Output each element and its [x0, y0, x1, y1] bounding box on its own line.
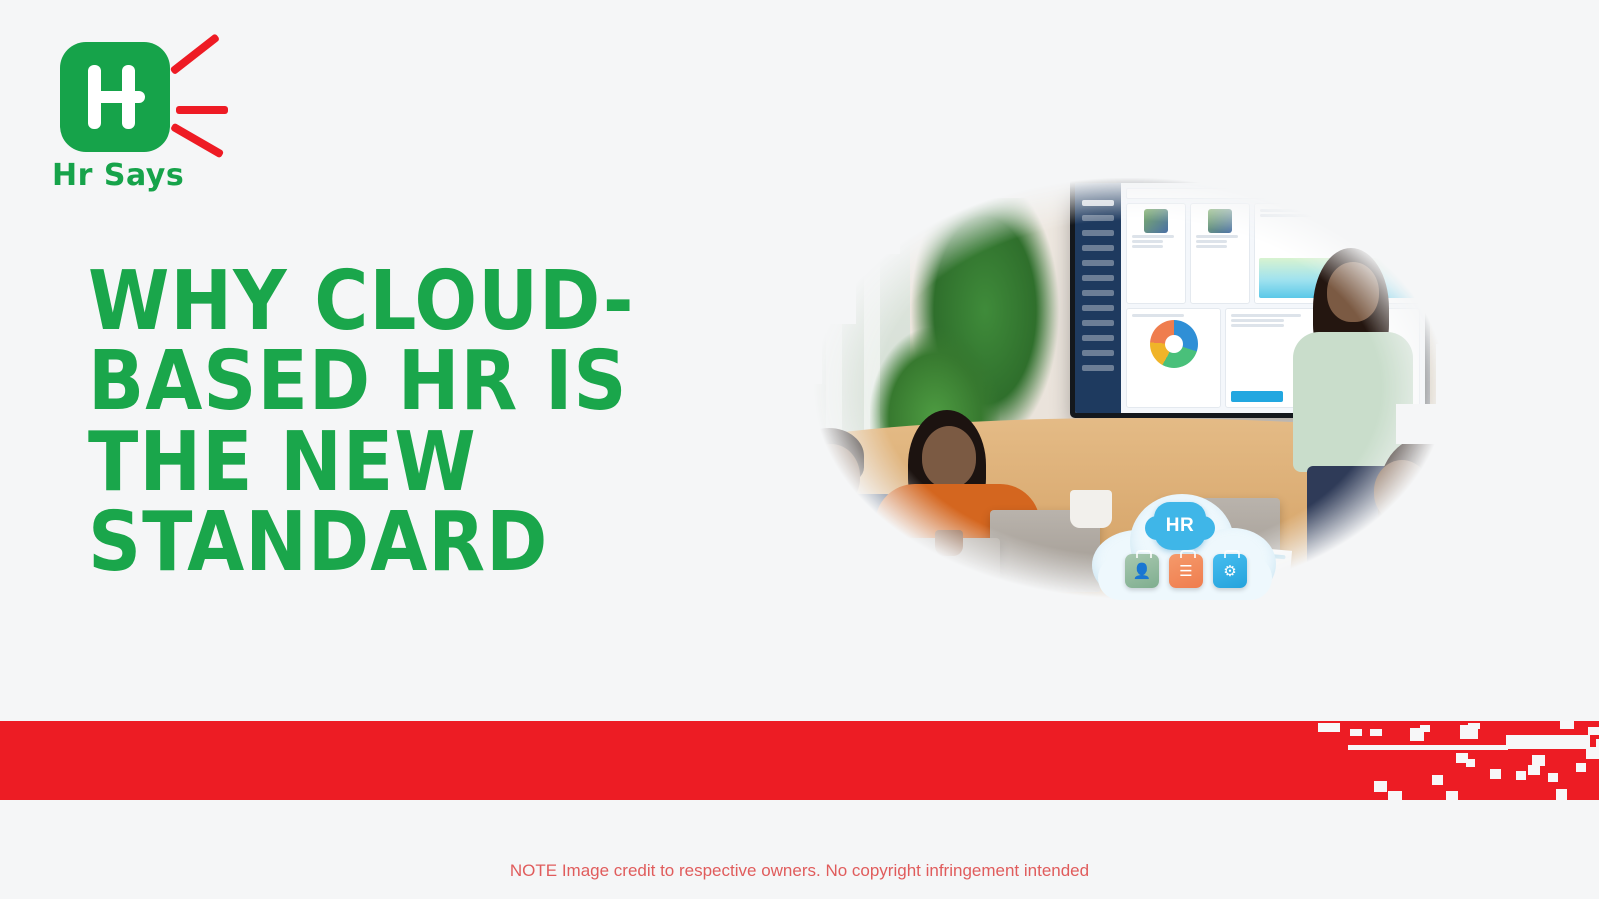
coffee-mug — [945, 578, 981, 614]
dashboard-sidebar — [1075, 183, 1121, 413]
employee-profile-card — [1126, 203, 1186, 304]
calendar-briefcase-icon: ☰ — [1169, 554, 1203, 588]
megaphone-rays-icon — [168, 44, 263, 154]
hr-cloud-badge: HR — [1154, 502, 1206, 550]
settings-briefcase-icon: ⚙ — [1213, 554, 1247, 588]
coffee-mug — [935, 530, 963, 556]
page-title: WHY CLOUD- BASED HR IS THE NEW STANDARD — [88, 262, 688, 583]
hero-photo: HR 👤 ☰ ⚙ — [740, 138, 1520, 638]
image-credit-note: NOTE Image credit to respective owners. … — [0, 861, 1599, 881]
donut-chart-card — [1126, 308, 1221, 409]
banner-glitch-pattern — [1270, 721, 1599, 800]
dashboard-toolbar — [1126, 188, 1420, 199]
donut-chart — [1150, 320, 1198, 368]
hr-cloud-graphic: HR 👤 ☰ ⚙ — [1092, 482, 1277, 602]
logo-square-icon — [60, 42, 170, 152]
primary-action-button[interactable] — [1231, 391, 1283, 402]
employee-profile-card — [1190, 203, 1250, 304]
logo-h-letter-icon — [60, 42, 170, 152]
table-plant-pot — [985, 604, 1025, 638]
hr-badge-label: HR — [1166, 515, 1194, 537]
red-banner — [0, 721, 1599, 800]
brand-name: Hr Says — [52, 158, 222, 193]
poster-canvas: Hr Says WHY CLOUD- BASED HR IS THE NEW S… — [0, 0, 1599, 899]
people-briefcase-icon: 👤 — [1125, 554, 1159, 588]
person-seated-right — [1330, 438, 1515, 638]
brand-logo[interactable]: Hr Says — [50, 38, 280, 208]
cloud-icon-row: 👤 ☰ ⚙ — [1116, 554, 1256, 588]
